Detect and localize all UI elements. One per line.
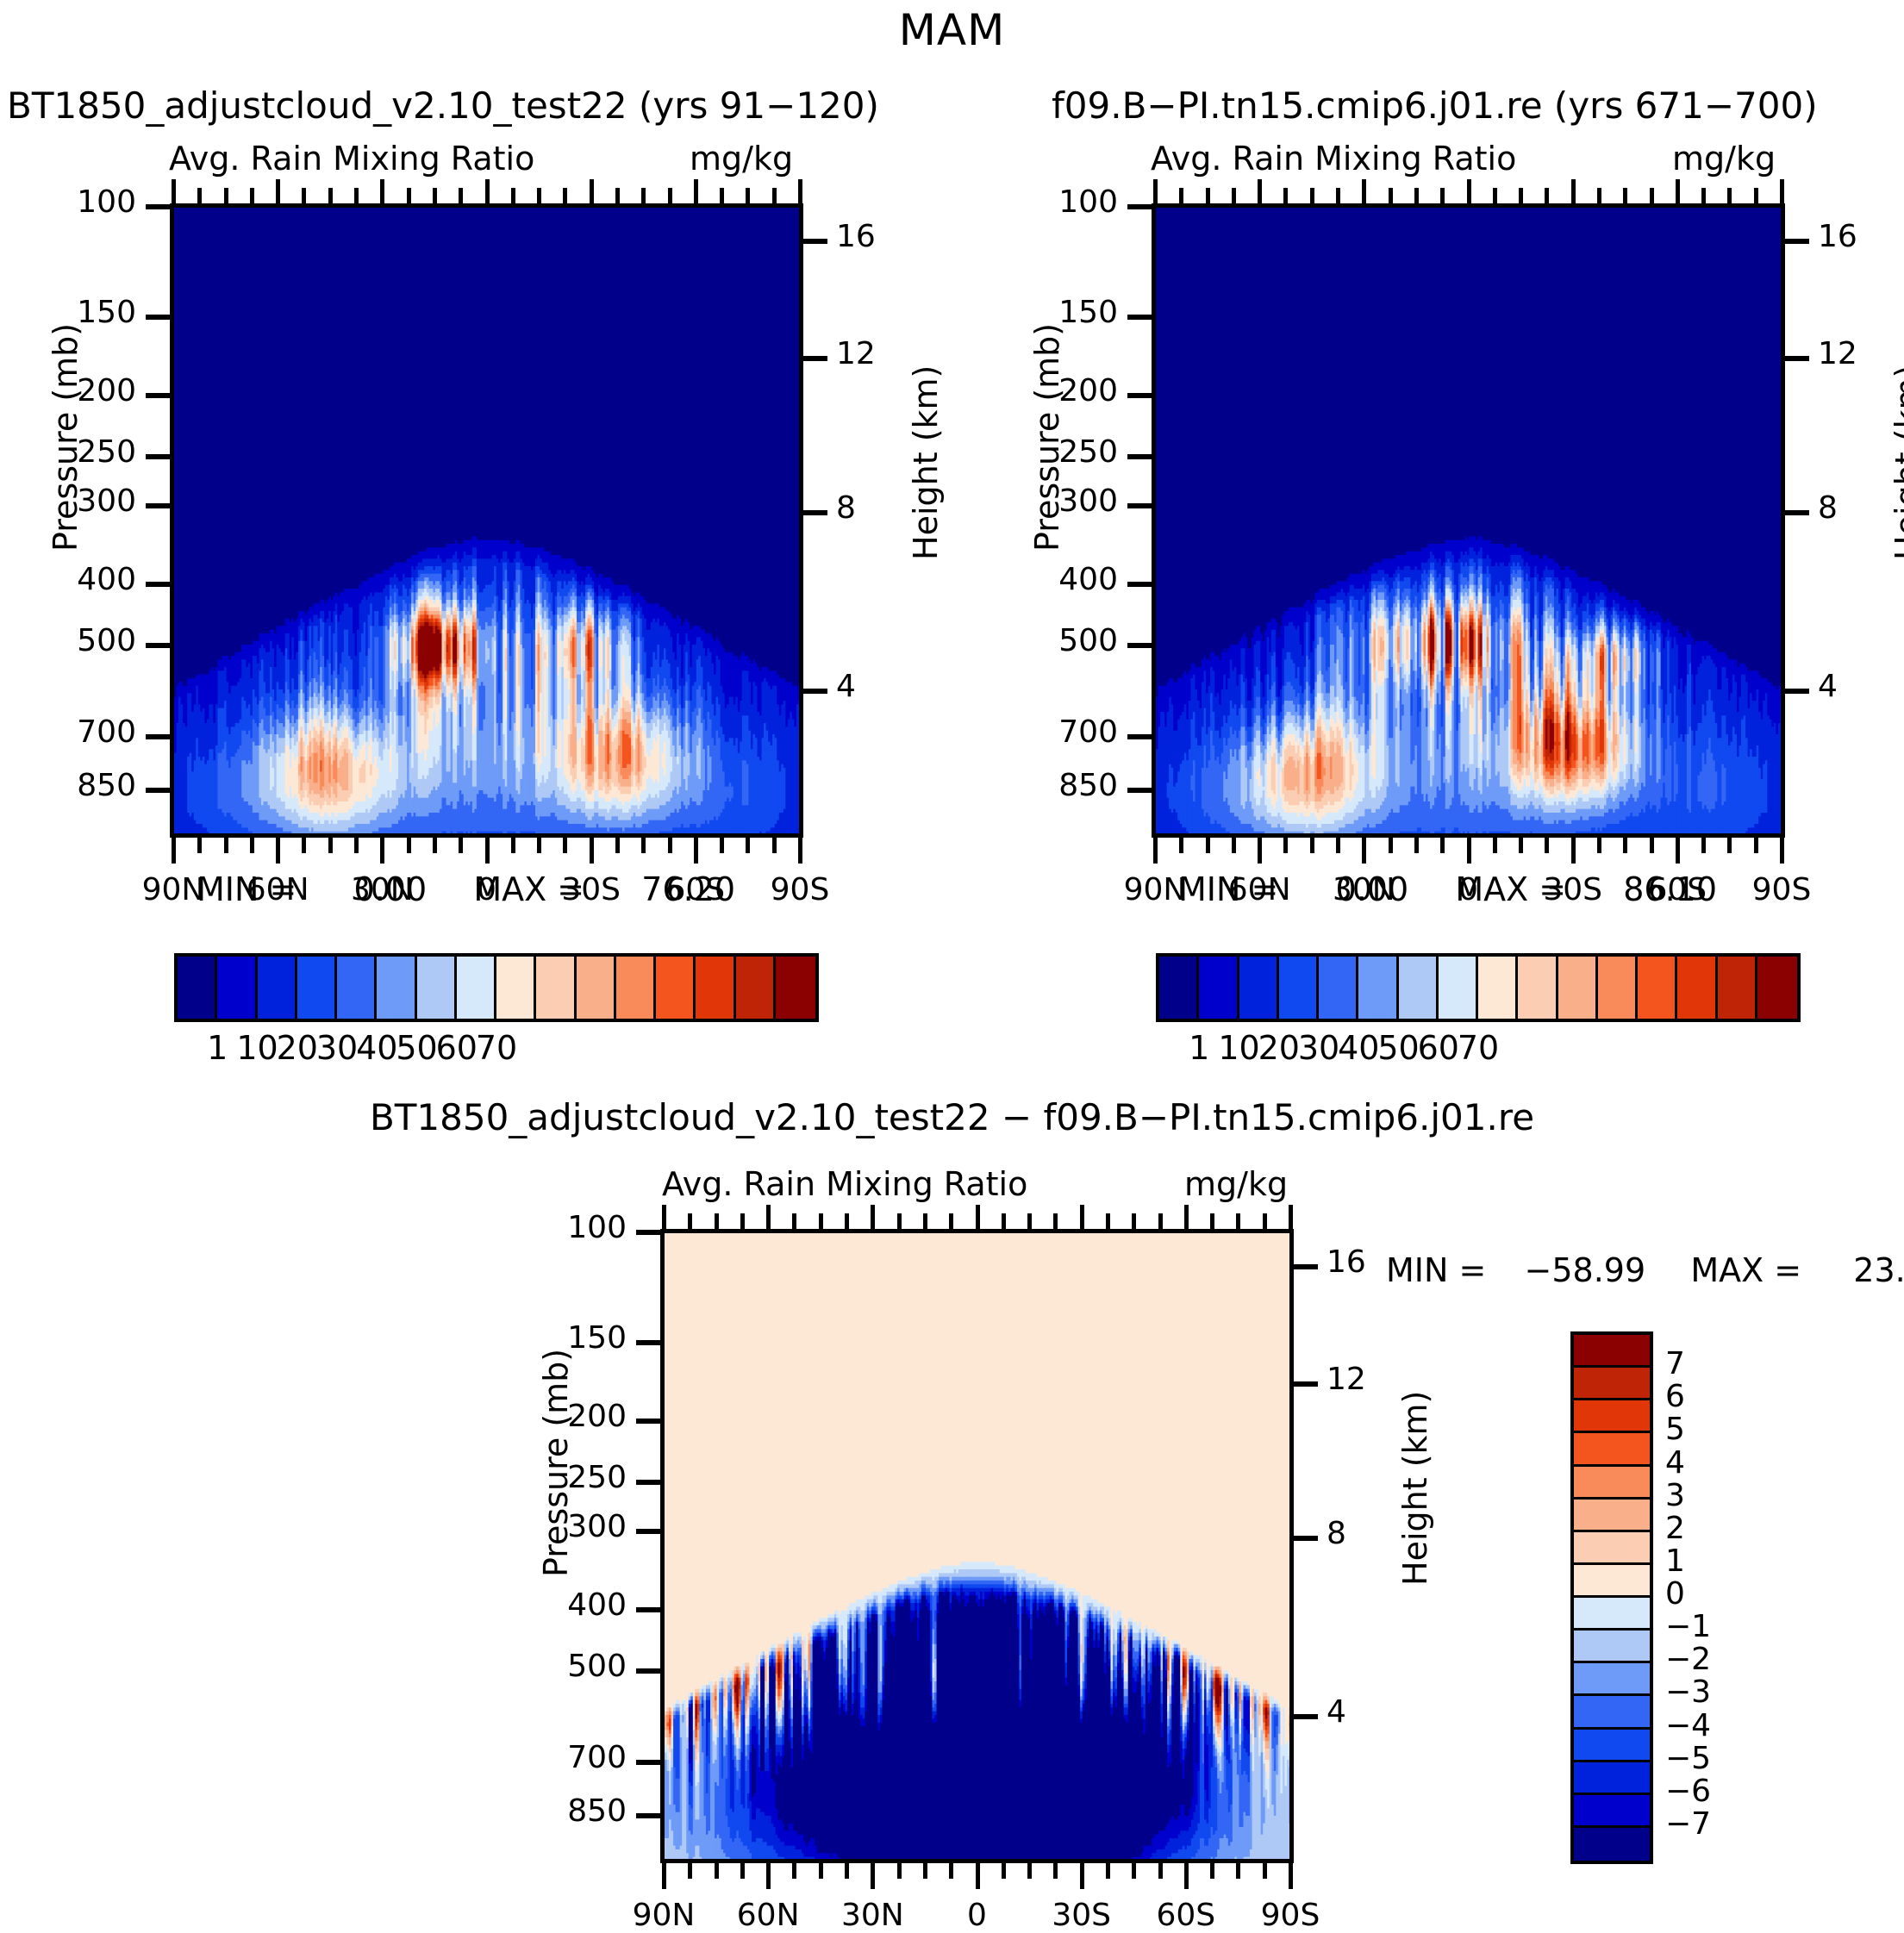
pressure-tick-850 [1127, 788, 1153, 793]
colorbar-cell-13 [696, 957, 735, 1019]
max-label-difference: MAX = [1690, 1251, 1801, 1289]
diff-colorbar-cell-12 [1574, 1730, 1650, 1762]
bottom-tick-6 [819, 1863, 823, 1879]
variable-heading-case2: Avg. Rain Mixing Ratio [1151, 140, 1516, 178]
colorbar-cell-10 [1558, 957, 1598, 1019]
top-tick-5 [302, 188, 306, 203]
bottom-tick-5 [302, 838, 306, 853]
bottom-tick-19 [668, 838, 672, 853]
height-tick-8 [1783, 510, 1809, 515]
height-tick-12 [1783, 356, 1809, 361]
bottom-tick-23 [772, 838, 777, 853]
plot-area-difference [660, 1229, 1294, 1863]
pressure-ticklabel-500: 500 [1001, 623, 1118, 658]
diff-colorbar-cell-15 [1574, 1828, 1650, 1861]
contour-field-difference [665, 1233, 1291, 1861]
top-tick-19 [1158, 1213, 1163, 1229]
diff-colorbar-ticklabel-−3: −3 [1665, 1674, 1711, 1710]
diff-colorbar-ticklabel-2: 2 [1665, 1511, 1685, 1546]
diff-colorbar-ticklabel-−7: −7 [1665, 1806, 1711, 1842]
bottom-tick-5 [1283, 838, 1288, 853]
top-tick-9 [1389, 188, 1393, 203]
height-tick-16 [1292, 1264, 1318, 1269]
top-tick-17 [1597, 188, 1601, 203]
colorbar-cell-11 [616, 957, 656, 1019]
top-tick-6 [819, 1213, 823, 1229]
bottom-tick-16 [1080, 1863, 1084, 1889]
top-tick-13 [511, 188, 515, 203]
bottom-tick-15 [563, 838, 567, 853]
bottom-tick-13 [511, 838, 515, 853]
height-tick-12 [1292, 1381, 1318, 1387]
top-tick-3 [1232, 188, 1236, 203]
min-value-case2: 0.00 [1336, 870, 1409, 908]
pressure-ticklabel-850: 850 [1001, 768, 1118, 803]
bottom-tick-8 [1362, 838, 1366, 864]
diff-colorbar-cell-11 [1574, 1696, 1650, 1729]
top-tick-14 [537, 188, 541, 203]
top-tick-24 [1780, 179, 1784, 203]
lat-ticklabel-60S: 60S [1126, 1898, 1246, 1933]
top-tick-21 [720, 188, 724, 203]
top-tick-11 [1440, 188, 1445, 203]
bottom-tick-3 [740, 1863, 745, 1879]
bottom-tick-11 [459, 838, 463, 853]
bottom-tick-10 [1414, 838, 1419, 853]
colorbar-cell-3 [297, 957, 337, 1019]
top-tick-18 [641, 188, 646, 203]
contour-field-case1 [174, 208, 801, 835]
top-tick-23 [1754, 188, 1758, 203]
top-tick-16 [590, 179, 594, 203]
diff-colorbar-cell-0 [1574, 1335, 1650, 1368]
top-tick-20 [1676, 179, 1680, 203]
lat-ticklabel-90S: 90S [1721, 872, 1842, 907]
bottom-tick-0 [662, 1863, 666, 1889]
bottom-tick-19 [1650, 838, 1654, 853]
top-tick-15 [1053, 1213, 1058, 1229]
colorbar-cell-6 [417, 957, 457, 1019]
diff-colorbar-cell-8 [1574, 1598, 1650, 1631]
colorbar-cell-2 [1239, 957, 1279, 1019]
diff-colorbar-cell-7 [1574, 1565, 1650, 1598]
top-tick-5 [1283, 188, 1288, 203]
height-ticklabel-12: 12 [1327, 1362, 1366, 1397]
pressure-ticklabel-850: 850 [509, 1793, 627, 1829]
top-tick-0 [172, 179, 176, 203]
top-tick-9 [407, 188, 411, 203]
top-tick-10 [923, 1213, 927, 1229]
bottom-tick-14 [1519, 838, 1523, 853]
top-tick-16 [1080, 1205, 1084, 1229]
top-tick-10 [433, 188, 437, 203]
bottom-tick-5 [792, 1863, 796, 1879]
bottom-tick-10 [923, 1863, 927, 1879]
top-tick-7 [354, 188, 359, 203]
bottom-tick-18 [641, 838, 646, 853]
season-title: MAM [0, 5, 1904, 55]
pressure-ticklabel-850: 850 [19, 768, 136, 803]
top-tick-2 [1206, 188, 1210, 203]
diff-colorbar-ticklabel-0: 0 [1665, 1576, 1685, 1612]
bottom-tick-2 [224, 838, 228, 853]
plot-area-case1 [170, 203, 803, 838]
colorbar-difference[interactable] [1570, 1331, 1653, 1864]
top-tick-14 [1519, 188, 1523, 203]
colorbar-cell-5 [1358, 957, 1398, 1019]
bottom-tick-6 [328, 838, 333, 853]
max-value-difference: 23.98 [1853, 1251, 1904, 1289]
pressure-tick-250 [1127, 454, 1153, 459]
top-tick-14 [1027, 1213, 1032, 1229]
pressure-tick-850 [146, 788, 172, 793]
bottom-tick-20 [1676, 838, 1680, 864]
pressure-ticklabel-400: 400 [509, 1587, 627, 1623]
top-tick-4 [1258, 179, 1262, 203]
bottom-tick-18 [1132, 1863, 1136, 1879]
bottom-tick-12 [976, 1863, 980, 1889]
top-tick-18 [1623, 188, 1627, 203]
diff-colorbar-cell-13 [1574, 1762, 1650, 1795]
contour-field-case2 [1156, 208, 1782, 835]
bottom-tick-11 [949, 1863, 953, 1879]
pressure-tick-500 [1127, 643, 1153, 648]
diff-colorbar-ticklabel-−6: −6 [1665, 1774, 1711, 1809]
bottom-tick-9 [897, 1863, 902, 1879]
colorbar-cell-9 [536, 957, 576, 1019]
diff-colorbar-ticklabel-4: 4 [1665, 1445, 1685, 1481]
diff-colorbar-cell-1 [1574, 1368, 1650, 1400]
colorbar-cell-14 [1718, 957, 1757, 1019]
colorbar-cell-8 [496, 957, 536, 1019]
bottom-tick-21 [1210, 1863, 1214, 1879]
bottom-tick-11 [1440, 838, 1445, 853]
height-tick-16 [802, 239, 827, 244]
top-tick-15 [563, 188, 567, 203]
top-tick-17 [1106, 1213, 1110, 1229]
top-tick-4 [276, 179, 280, 203]
top-tick-6 [1310, 188, 1314, 203]
top-tick-7 [845, 1213, 849, 1229]
top-tick-4 [766, 1205, 771, 1229]
top-tick-10 [1414, 188, 1419, 203]
lat-ticklabel-90N: 90N [603, 1898, 724, 1933]
pressure-ticklabel-700: 700 [19, 714, 136, 750]
pressure-tick-300 [1127, 503, 1153, 508]
colorbar-cell-1 [1199, 957, 1239, 1019]
bottom-tick-4 [766, 1863, 771, 1889]
bottom-tick-6 [1310, 838, 1314, 853]
colorbar-cell-7 [457, 957, 496, 1019]
bottom-tick-4 [276, 838, 280, 864]
top-tick-19 [1650, 188, 1654, 203]
pressure-tick-300 [636, 1529, 662, 1534]
lat-ticklabel-30N: 30N [812, 1898, 933, 1933]
pressure-tick-200 [146, 393, 172, 398]
min-label-case1: MIN = [197, 870, 297, 908]
colorbar-cell-6 [1399, 957, 1439, 1019]
diff-colorbar-ticklabel-3: 3 [1665, 1478, 1685, 1513]
panel-title-case2: f09.B−PI.tn15.cmip6.j01.re (yrs 671−700) [1052, 84, 1818, 127]
colorbar-ticklabel-70: 70 [445, 1029, 548, 1067]
pressure-ticklabel-500: 500 [19, 623, 136, 658]
bottom-tick-17 [1106, 1863, 1110, 1879]
top-tick-20 [1184, 1205, 1189, 1229]
bottom-tick-7 [845, 1863, 849, 1879]
max-label-case2: MAX = [1455, 870, 1566, 908]
diff-colorbar-ticklabel-1: 1 [1665, 1543, 1685, 1579]
pressure-ticklabel-400: 400 [19, 562, 136, 597]
colorbar-cell-7 [1439, 957, 1478, 1019]
bottom-tick-1 [197, 838, 202, 853]
bottom-tick-14 [1027, 1863, 1032, 1879]
height-ticklabel-12: 12 [836, 336, 876, 371]
bottom-tick-24 [798, 838, 802, 864]
bottom-tick-7 [354, 838, 359, 853]
top-tick-2 [224, 188, 228, 203]
diff-colorbar-cell-10 [1574, 1663, 1650, 1696]
y-axis-label-case1: Pressure (mb) [47, 323, 84, 552]
height-ticklabel-4: 4 [1818, 669, 1838, 704]
pressure-ticklabel-100: 100 [19, 184, 136, 220]
pressure-tick-150 [146, 315, 172, 320]
top-tick-8 [871, 1205, 875, 1229]
top-tick-7 [1336, 188, 1340, 203]
bottom-tick-2 [715, 1863, 719, 1879]
diff-colorbar-cell-6 [1574, 1532, 1650, 1565]
top-tick-23 [1263, 1213, 1267, 1229]
pressure-ticklabel-700: 700 [1001, 714, 1118, 750]
top-tick-0 [1153, 179, 1158, 203]
height-ticklabel-8: 8 [1327, 1516, 1346, 1551]
top-tick-1 [1179, 188, 1183, 203]
min-value-difference: −58.99 [1525, 1251, 1646, 1289]
bottom-tick-4 [1258, 838, 1262, 864]
bottom-tick-10 [433, 838, 437, 853]
height-ticklabel-16: 16 [836, 219, 876, 254]
lat-ticklabel-90S: 90S [740, 872, 860, 907]
colorbar-cell-4 [337, 957, 377, 1019]
pressure-tick-500 [146, 643, 172, 648]
top-tick-8 [380, 179, 384, 203]
bottom-tick-22 [746, 838, 750, 853]
lat-ticklabel-60N: 60N [708, 1898, 828, 1933]
pressure-ticklabel-100: 100 [1001, 184, 1118, 220]
colorbar-cell-4 [1319, 957, 1358, 1019]
bottom-tick-20 [1184, 1863, 1189, 1889]
max-value-case2: 86.10 [1623, 870, 1717, 908]
diff-colorbar-ticklabel-−4: −4 [1665, 1708, 1711, 1743]
colorbar-cell-1 [217, 957, 257, 1019]
panel-title-difference: BT1850_adjustcloud_v2.10_test22 − f09.B−… [0, 1096, 1904, 1138]
lat-ticklabel-0: 0 [917, 1898, 1038, 1933]
colorbar-cell-3 [1279, 957, 1319, 1019]
pressure-tick-200 [1127, 393, 1153, 398]
pressure-tick-100 [636, 1230, 662, 1235]
top-tick-13 [1493, 188, 1497, 203]
top-tick-11 [459, 188, 463, 203]
pressure-tick-100 [146, 204, 172, 209]
top-tick-22 [1727, 188, 1732, 203]
top-tick-20 [694, 179, 698, 203]
diff-colorbar-ticklabel-−2: −2 [1665, 1642, 1711, 1677]
bottom-tick-9 [1389, 838, 1393, 853]
bottom-tick-20 [694, 838, 698, 864]
bottom-tick-16 [1571, 838, 1576, 864]
bottom-tick-3 [1232, 838, 1236, 853]
bottom-tick-1 [688, 1863, 692, 1879]
top-tick-2 [715, 1213, 719, 1229]
bottom-tick-12 [1467, 838, 1471, 864]
pressure-tick-200 [636, 1419, 662, 1424]
height-tick-4 [1292, 1714, 1318, 1719]
bottom-tick-23 [1754, 838, 1758, 853]
top-tick-0 [662, 1205, 666, 1229]
minmax-case1: MIN = 0.00 MAX = 76.20 [197, 870, 735, 908]
variable-heading-case1: Avg. Rain Mixing Ratio [169, 140, 534, 178]
bottom-tick-22 [1236, 1863, 1240, 1879]
top-tick-3 [740, 1213, 745, 1229]
pressure-tick-150 [1127, 315, 1153, 320]
min-label-case2: MIN = [1178, 870, 1278, 908]
y-axis-label-case2: Pressure (mb) [1028, 323, 1066, 552]
pressure-tick-250 [636, 1480, 662, 1485]
top-tick-21 [1701, 188, 1706, 203]
colorbar-case2[interactable] [1156, 953, 1801, 1022]
top-tick-21 [1210, 1213, 1214, 1229]
bottom-tick-17 [615, 838, 620, 853]
pressure-tick-700 [146, 734, 172, 739]
colorbar-cell-11 [1598, 957, 1638, 1019]
colorbar-cell-8 [1478, 957, 1518, 1019]
bottom-tick-21 [1701, 838, 1706, 853]
bottom-tick-0 [172, 838, 176, 864]
pressure-tick-250 [146, 454, 172, 459]
top-tick-12 [485, 179, 490, 203]
colorbar-cell-15 [776, 957, 815, 1019]
height-tick-8 [1292, 1536, 1318, 1541]
top-tick-12 [1467, 179, 1471, 203]
top-tick-16 [1571, 179, 1576, 203]
top-tick-9 [897, 1213, 902, 1229]
pressure-tick-300 [146, 503, 172, 508]
colorbar-cell-5 [377, 957, 416, 1019]
colorbar-cell-12 [656, 957, 696, 1019]
top-tick-13 [1002, 1213, 1006, 1229]
diff-colorbar-cell-4 [1574, 1467, 1650, 1500]
height-ticklabel-8: 8 [836, 490, 856, 526]
bottom-tick-2 [1206, 838, 1210, 853]
top-tick-17 [615, 188, 620, 203]
pressure-tick-400 [146, 582, 172, 587]
height-tick-12 [802, 356, 827, 361]
lat-ticklabel-90S: 90S [1230, 1898, 1351, 1933]
bottom-tick-15 [1545, 838, 1549, 853]
top-tick-22 [1236, 1213, 1240, 1229]
colorbar-cell-15 [1757, 957, 1797, 1019]
colorbar-cell-10 [577, 957, 616, 1019]
top-tick-24 [1289, 1205, 1293, 1229]
colorbar-cell-2 [258, 957, 297, 1019]
height-ticklabel-16: 16 [1327, 1244, 1366, 1280]
units-label-case2: mg/kg [1672, 140, 1776, 178]
top-tick-15 [1545, 188, 1549, 203]
lat-ticklabel-30S: 30S [1021, 1898, 1142, 1933]
plot-area-case2 [1152, 203, 1785, 838]
colorbar-cell-9 [1518, 957, 1558, 1019]
bottom-tick-16 [590, 838, 594, 864]
height-ticklabel-4: 4 [1327, 1694, 1346, 1730]
bottom-tick-22 [1727, 838, 1732, 853]
diff-colorbar-cell-14 [1574, 1795, 1650, 1828]
pressure-tick-850 [636, 1813, 662, 1818]
bottom-tick-17 [1597, 838, 1601, 853]
y2-axis-label-case2: Height (km) [1888, 365, 1904, 560]
bottom-tick-14 [537, 838, 541, 853]
diff-colorbar-ticklabel-−5: −5 [1665, 1741, 1711, 1776]
bottom-tick-18 [1623, 838, 1627, 853]
pressure-ticklabel-100: 100 [509, 1210, 627, 1245]
pressure-tick-400 [1127, 582, 1153, 587]
top-tick-18 [1132, 1213, 1136, 1229]
colorbar-cell-0 [178, 957, 217, 1019]
max-value-case1: 76.20 [641, 870, 735, 908]
height-tick-4 [1783, 689, 1809, 694]
bottom-tick-0 [1153, 838, 1158, 864]
bottom-tick-3 [250, 838, 254, 853]
pressure-tick-500 [636, 1668, 662, 1674]
height-ticklabel-8: 8 [1818, 490, 1838, 526]
min-value-case1: 0.00 [354, 870, 428, 908]
colorbar-case1[interactable] [174, 953, 819, 1022]
top-tick-11 [949, 1213, 953, 1229]
top-tick-3 [250, 188, 254, 203]
bottom-tick-21 [720, 838, 724, 853]
diff-colorbar-cell-5 [1574, 1500, 1650, 1532]
pressure-tick-400 [636, 1607, 662, 1612]
height-ticklabel-4: 4 [836, 669, 856, 704]
colorbar-ticklabel-70: 70 [1426, 1029, 1530, 1067]
diff-colorbar-ticklabel-7: 7 [1665, 1346, 1685, 1381]
y2-axis-label-case1: Height (km) [907, 365, 945, 560]
bottom-tick-24 [1780, 838, 1784, 864]
min-label-difference: MIN = [1386, 1251, 1486, 1289]
top-tick-12 [976, 1205, 980, 1229]
diff-colorbar-ticklabel-5: 5 [1665, 1412, 1685, 1447]
pressure-ticklabel-500: 500 [509, 1649, 627, 1684]
height-tick-16 [1783, 239, 1809, 244]
diff-colorbar-cell-3 [1574, 1433, 1650, 1466]
bottom-tick-24 [1289, 1863, 1293, 1889]
colorbar-cell-13 [1677, 957, 1717, 1019]
top-tick-5 [792, 1213, 796, 1229]
bottom-tick-15 [1053, 1863, 1058, 1879]
diff-colorbar-cell-2 [1574, 1400, 1650, 1433]
top-tick-22 [746, 188, 750, 203]
pressure-tick-100 [1127, 204, 1153, 209]
bottom-tick-19 [1158, 1863, 1163, 1879]
colorbar-cell-0 [1159, 957, 1199, 1019]
bottom-tick-7 [1336, 838, 1340, 853]
bottom-tick-8 [380, 838, 384, 864]
top-tick-24 [798, 179, 802, 203]
top-tick-19 [668, 188, 672, 203]
bottom-tick-13 [1002, 1863, 1006, 1879]
pressure-tick-150 [636, 1340, 662, 1345]
diff-colorbar-cell-9 [1574, 1631, 1650, 1663]
bottom-tick-23 [1263, 1863, 1267, 1879]
diff-colorbar-ticklabel-6: 6 [1665, 1379, 1685, 1414]
